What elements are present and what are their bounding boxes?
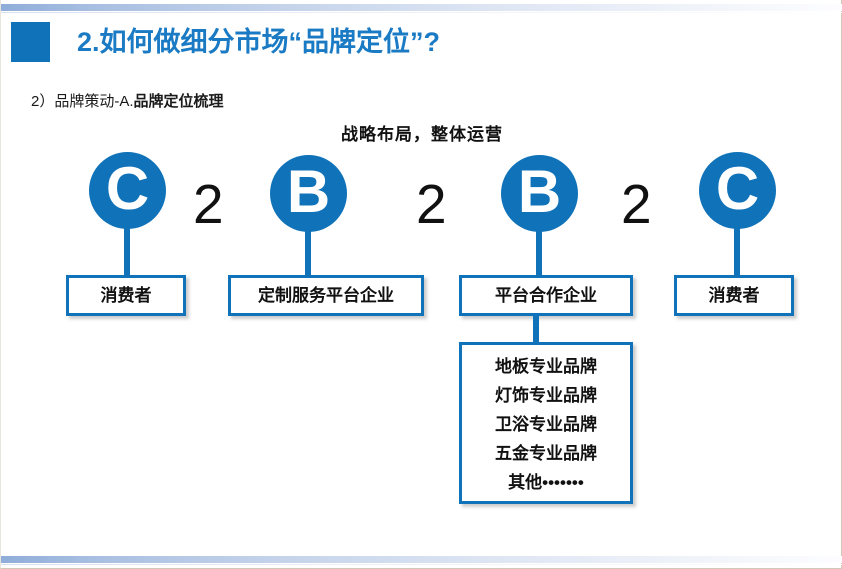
list-item: 五金专业品牌 [462, 439, 630, 468]
bottom-gradient-hairline [1, 564, 842, 565]
detail-list-connector [533, 313, 539, 345]
node-stem-2 [305, 227, 311, 275]
separator-2-third: 2 [621, 177, 652, 232]
b2b2c-chain-diagram: C 消费者 2 B 定制服务平台企业 2 B 平台合作企业 2 [1, 0, 842, 569]
separator-2-first: 2 [193, 177, 224, 232]
chain-box-3: 平台合作企业 [459, 275, 633, 316]
node-stem-1 [124, 224, 130, 275]
chain-box-1-label: 消费者 [101, 286, 152, 305]
slide-canvas: 2.如何做细分市场“品牌定位”? 2）品牌策动-A.品牌定位梳理 战略布局，整体… [0, 0, 842, 569]
brand-category-list-box: 地板专业品牌 灯饰专业品牌 卫浴专业品牌 五金专业品牌 其他••••••• [459, 342, 633, 504]
chain-box-3-label: 平台合作企业 [495, 286, 597, 305]
list-item: 卫浴专业品牌 [462, 410, 630, 439]
node-bubble-b-1: B [270, 155, 347, 232]
node-bubble-c-2: C [699, 152, 776, 229]
chain-box-2-label: 定制服务平台企业 [258, 286, 394, 305]
list-item: 其他••••••• [462, 468, 630, 497]
node-bubble-b-2: B [501, 155, 578, 232]
bottom-gradient-rule [1, 556, 842, 563]
chain-box-1: 消费者 [66, 275, 186, 316]
list-item: 灯饰专业品牌 [462, 381, 630, 410]
chain-box-2: 定制服务平台企业 [228, 275, 424, 316]
list-item: 地板专业品牌 [462, 352, 630, 381]
node-stem-4 [734, 224, 740, 275]
chain-box-4-label: 消费者 [709, 286, 760, 305]
chain-box-4: 消费者 [674, 275, 794, 316]
separator-2-second: 2 [416, 177, 447, 232]
node-bubble-c-1: C [89, 152, 166, 229]
node-stem-3 [536, 227, 542, 275]
